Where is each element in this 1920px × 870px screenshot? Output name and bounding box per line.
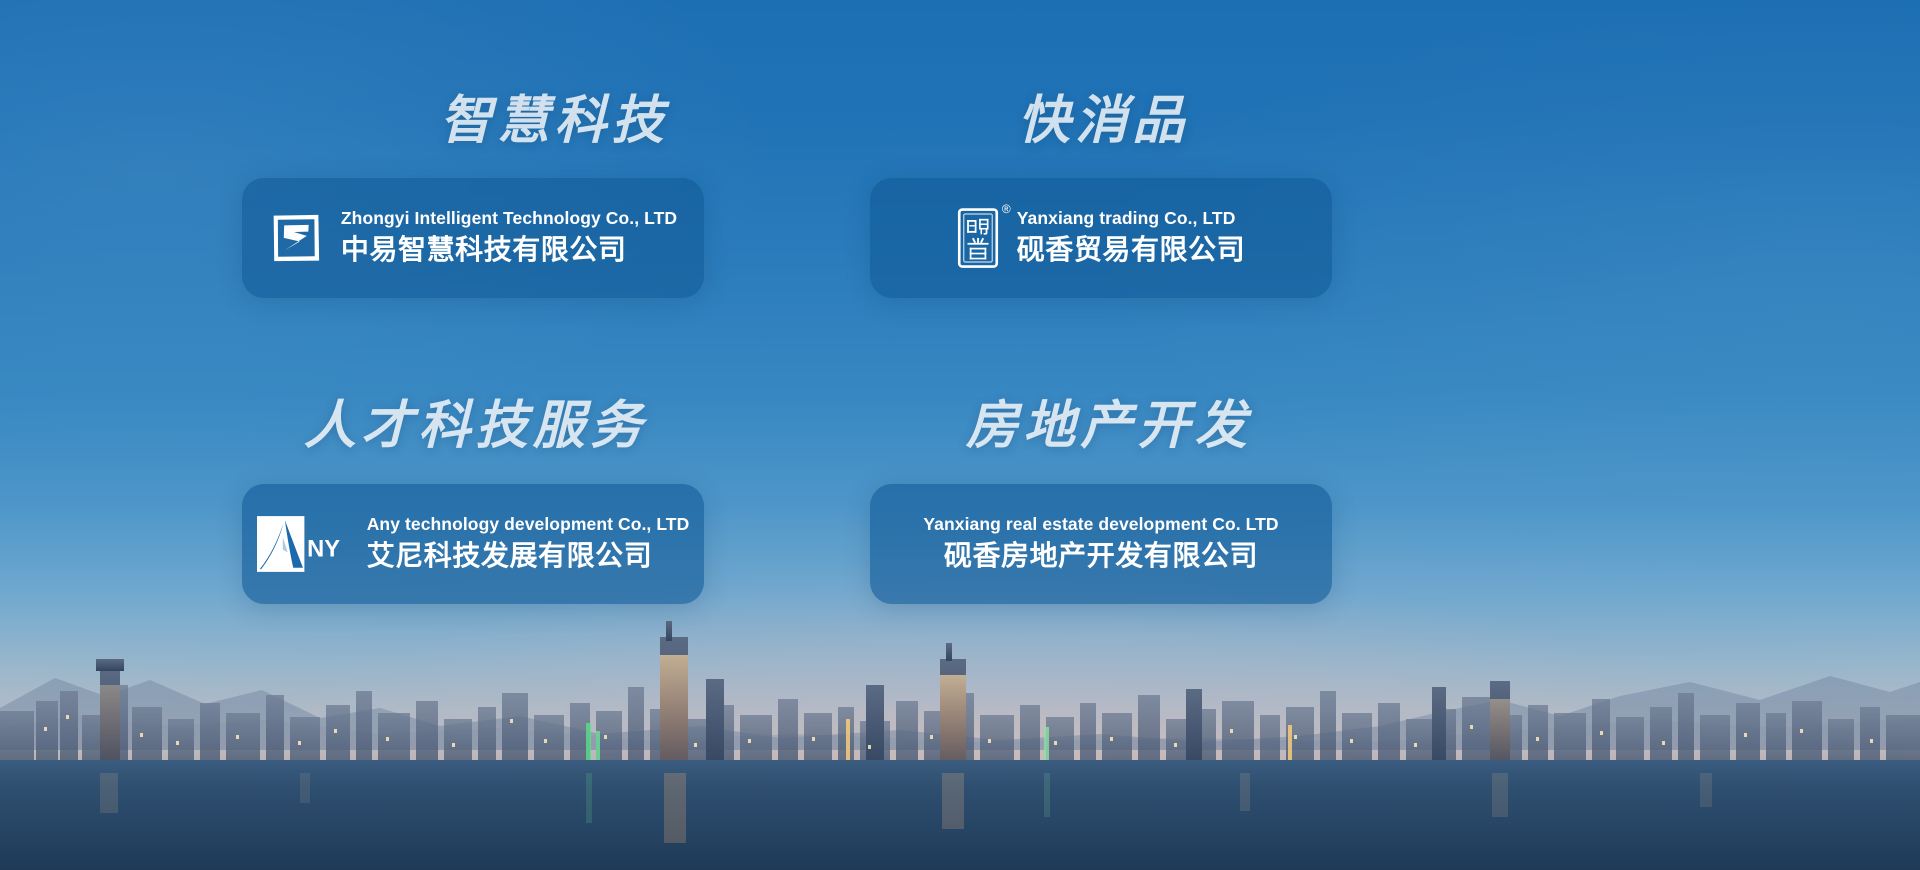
segment-smart-technology: 智慧科技 — [240, 95, 860, 147]
company-name-block-zhongyi: Zhongyi Intelligent Technology Co., LTD … — [341, 208, 677, 268]
segment-heading-talent-services: 人才科技服务 — [304, 400, 860, 452]
company-name-en: Yanxiang real estate development Co. LTD — [923, 514, 1278, 536]
company-name-cn: 艾尼科技发展有限公司 — [367, 538, 690, 574]
segment-real-estate: 房地产开发 — [870, 400, 1490, 452]
company-card-any-technology[interactable]: NY Any technology development Co., LTD 艾… — [242, 484, 704, 604]
company-card-zhongyi[interactable]: Zhongyi Intelligent Technology Co., LTD … — [242, 178, 704, 298]
segment-fmcg: 快消品 — [870, 95, 1490, 147]
company-name-en: Yanxiang trading Co., LTD — [1017, 208, 1245, 230]
yanxiang-seal-logo-wrap: ® — [957, 207, 999, 269]
segment-heading-real-estate: 房地产开发 — [966, 400, 1490, 452]
company-name-cn: 中易智慧科技有限公司 — [341, 232, 677, 268]
company-name-cn: 砚香贸易有限公司 — [1017, 232, 1245, 268]
segment-heading-fmcg: 快消品 — [1018, 95, 1490, 147]
company-card-yanxiang-real-estate[interactable]: Yanxiang real estate development Co. LTD… — [870, 484, 1332, 604]
company-card-yanxiang-trading[interactable]: ® Yanxiang trading Co., LTD 砚香贸易有限公司 — [870, 178, 1332, 298]
segments-content: 智慧科技 Zhongyi Intelligent Technology Co.,… — [0, 0, 1920, 870]
segment-heading-smart-technology: 智慧科技 — [440, 95, 860, 147]
svg-text:NY: NY — [307, 537, 340, 563]
company-name-block-any-technology: Any technology development Co., LTD 艾尼科技… — [367, 514, 690, 574]
zhongyi-z-logo — [269, 211, 323, 265]
company-name-en: Any technology development Co., LTD — [367, 514, 690, 536]
company-name-en: Zhongyi Intelligent Technology Co., LTD — [341, 208, 677, 230]
any-mountain-logo: NY — [257, 516, 349, 572]
company-name-block-yanxiang-real-estate: Yanxiang real estate development Co. LTD… — [923, 514, 1278, 574]
registered-mark: ® — [1002, 203, 1011, 215]
company-name-block-yanxiang-trading: Yanxiang trading Co., LTD 砚香贸易有限公司 — [1017, 208, 1245, 268]
company-name-cn: 砚香房地产开发有限公司 — [944, 538, 1258, 574]
segment-talent-services: 人才科技服务 — [240, 400, 860, 452]
yanxiang-seal-logo — [957, 207, 999, 269]
showcase-stage: 智慧科技 Zhongyi Intelligent Technology Co.,… — [0, 0, 1920, 870]
